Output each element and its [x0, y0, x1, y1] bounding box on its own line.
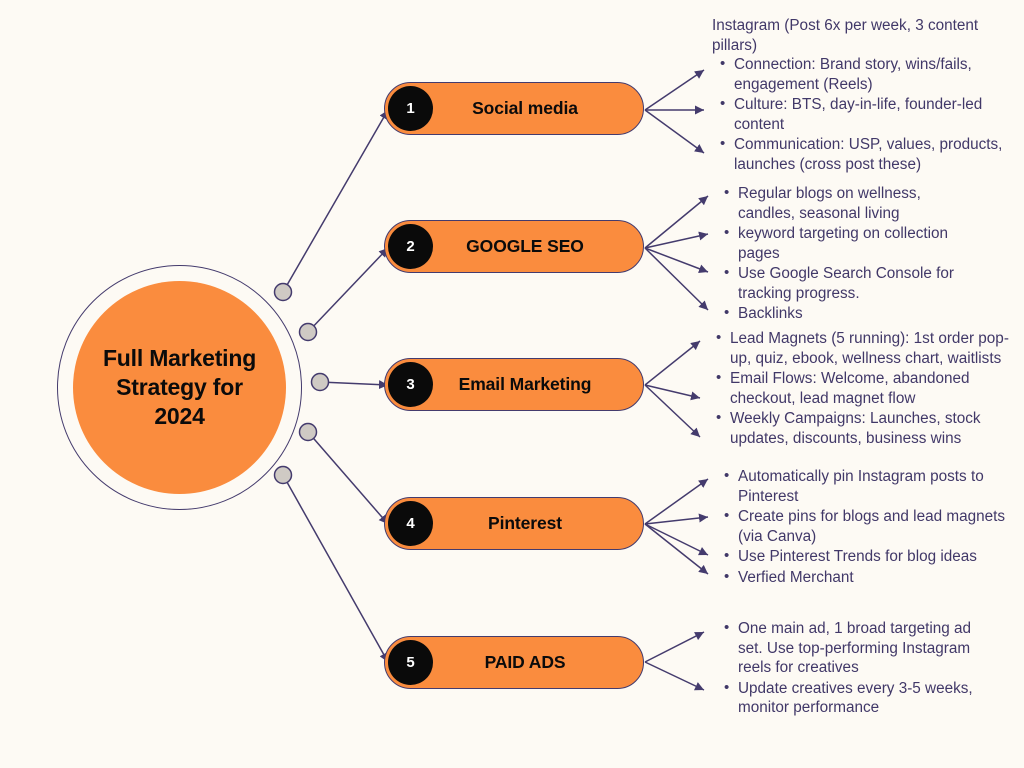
wire-branch-4-note-3 — [645, 524, 708, 555]
notes-google-seo: Regular blogs on wellness, candles, seas… — [716, 184, 966, 325]
list-item: One main ad, 1 broad targeting ad set. U… — [738, 619, 978, 678]
branch-number-badge: 2 — [388, 224, 433, 269]
mindmap-canvas: Full Marketing Strategy for 2024 1 Socia… — [0, 0, 1024, 768]
branch-number-badge: 3 — [388, 362, 433, 407]
list-item: Email Flows: Welcome, abandoned checkout… — [730, 369, 1024, 408]
wire-branch-4-note-1 — [645, 479, 708, 524]
wire-branch-2-note-4 — [645, 248, 708, 310]
wire-branch-4-note-4 — [645, 524, 708, 574]
list-item: Weekly Campaigns: Launches, stock update… — [730, 409, 1024, 448]
wire-branch-5-note-1 — [645, 632, 704, 662]
notes-social-media: Instagram (Post 6x per week, 3 content p… — [712, 16, 1024, 176]
wire-hub-to-branch-1 — [283, 110, 388, 292]
notes-lead: Instagram (Post 6x per week, 3 content p… — [712, 16, 1024, 55]
hub-connector-dot-5 — [275, 467, 292, 484]
branch-node-email-marketing[interactable]: 3 Email Marketing — [384, 358, 644, 411]
hub-connector-dot-1 — [275, 284, 292, 301]
list-item: Use Google Search Console for tracking p… — [738, 264, 966, 303]
notes-list: Lead Magnets (5 running): 1st order pop-… — [708, 329, 1024, 448]
hub-circle[interactable]: Full Marketing Strategy for 2024 — [73, 281, 286, 494]
wire-branch-3-note-2 — [645, 385, 700, 398]
wire-branch-3-note-3 — [645, 385, 700, 437]
wire-hub-to-branch-3 — [320, 382, 388, 385]
wire-branch-5-note-2 — [645, 662, 704, 690]
branch-node-social-media[interactable]: 1 Social media — [384, 82, 644, 135]
branch-node-google-seo[interactable]: 2 GOOGLE SEO — [384, 220, 644, 273]
page-title: Full Marketing Strategy for 2024 — [85, 344, 275, 431]
wire-branch-2-note-1 — [645, 196, 708, 248]
branch-number-badge: 4 — [388, 501, 433, 546]
list-item: Create pins for blogs and lead magnets (… — [738, 507, 1024, 546]
wire-branch-2-note-3 — [645, 248, 708, 272]
notes-pinterest: Automatically pin Instagram posts to Pin… — [716, 467, 1024, 588]
wire-branch-1-note-1 — [645, 70, 704, 110]
wire-hub-to-branch-4 — [308, 432, 388, 524]
wire-branch-2-note-2 — [645, 234, 708, 248]
list-item: Lead Magnets (5 running): 1st order pop-… — [730, 329, 1024, 368]
notes-list: One main ad, 1 broad targeting ad set. U… — [716, 619, 978, 718]
notes-list: Regular blogs on wellness, candles, seas… — [716, 184, 966, 324]
list-item: keyword targeting on collection pages — [738, 224, 966, 263]
notes-email-marketing: Lead Magnets (5 running): 1st order pop-… — [708, 329, 1024, 449]
list-item: Update creatives every 3-5 weeks, monito… — [738, 679, 978, 718]
branch-number-badge: 1 — [388, 86, 433, 131]
wire-branch-4-note-2 — [645, 517, 708, 524]
branch-node-pinterest[interactable]: 4 Pinterest — [384, 497, 644, 550]
notes-paid-ads: One main ad, 1 broad targeting ad set. U… — [716, 619, 978, 719]
branch-node-paid-ads[interactable]: 5 PAID ADS — [384, 636, 644, 689]
list-item: Regular blogs on wellness, candles, seas… — [738, 184, 966, 223]
list-item: Use Pinterest Trends for blog ideas — [738, 547, 1024, 567]
list-item: Culture: BTS, day-in-life, founder-led c… — [734, 95, 1024, 134]
list-item: Backlinks — [738, 304, 966, 324]
hub-connector-dot-2 — [300, 324, 317, 341]
wire-branch-1-note-3 — [645, 110, 704, 153]
wire-branch-3-note-1 — [645, 341, 700, 385]
wire-hub-to-branch-2 — [308, 248, 388, 332]
list-item: Communication: USP, values, products, la… — [734, 135, 1024, 174]
list-item: Verfied Merchant — [738, 568, 1024, 588]
list-item: Automatically pin Instagram posts to Pin… — [738, 467, 1024, 506]
notes-list: Connection: Brand story, wins/fails, eng… — [712, 55, 1024, 174]
hub-connector-dot-3 — [312, 374, 329, 391]
list-item: Connection: Brand story, wins/fails, eng… — [734, 55, 1024, 94]
hub-connector-dot-4 — [300, 424, 317, 441]
notes-list: Automatically pin Instagram posts to Pin… — [716, 467, 1024, 587]
branch-number-badge: 5 — [388, 640, 433, 685]
wire-hub-to-branch-5 — [283, 475, 388, 662]
